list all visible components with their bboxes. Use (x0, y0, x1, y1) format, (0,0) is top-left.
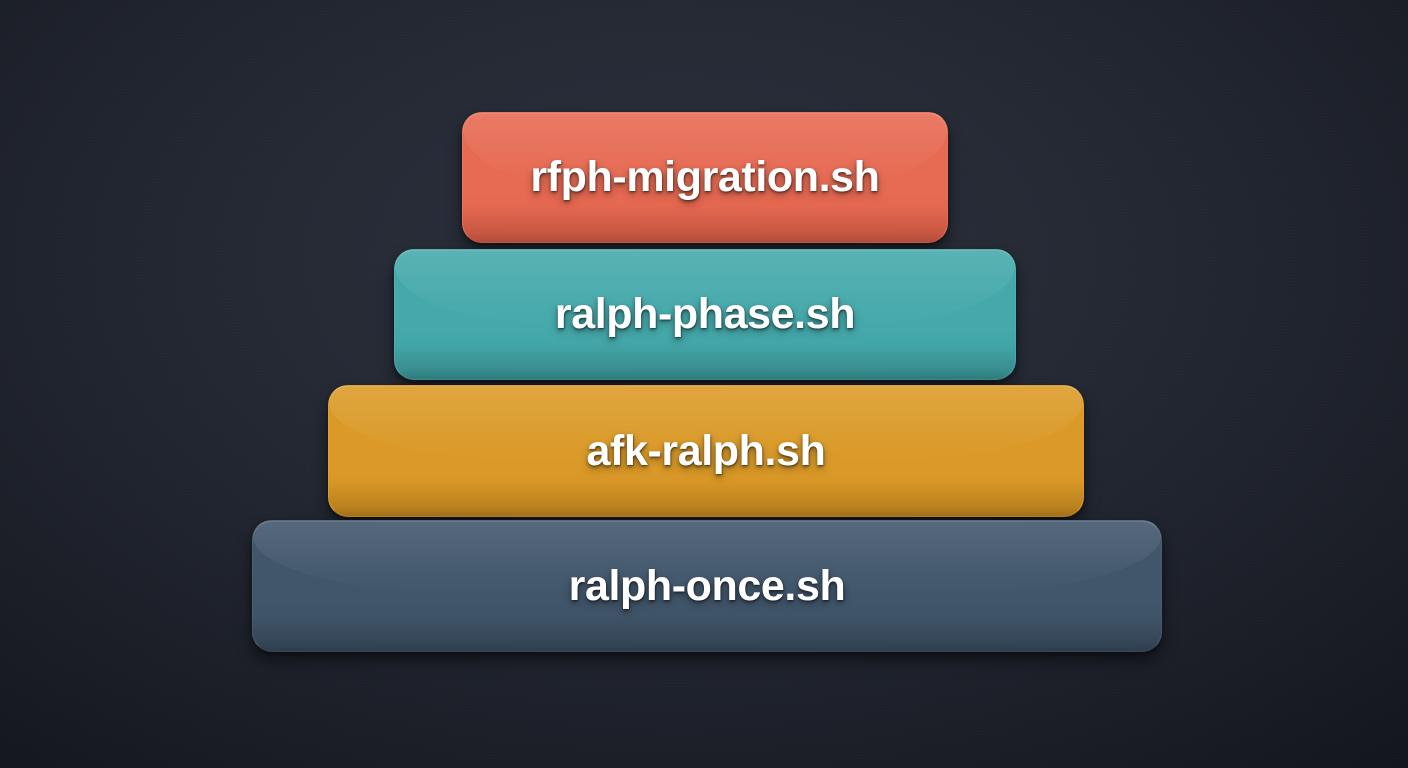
pyramid-layer-label: afk-ralph.sh (587, 430, 826, 473)
pyramid-layer-label: ralph-once.sh (569, 565, 846, 608)
pyramid-layer-3[interactable]: afk-ralph.sh (328, 385, 1084, 517)
pyramid-layer-4[interactable]: ralph-once.sh (252, 520, 1162, 652)
diagram-canvas: rfph-migration.sh ralph-phase.sh afk-ral… (0, 0, 1408, 768)
script-hierarchy-pyramid: rfph-migration.sh ralph-phase.sh afk-ral… (0, 0, 1408, 768)
pyramid-layer-1[interactable]: rfph-migration.sh (462, 112, 948, 243)
pyramid-layer-label: ralph-phase.sh (555, 293, 855, 336)
pyramid-layer-2[interactable]: ralph-phase.sh (394, 249, 1016, 380)
pyramid-layer-label: rfph-migration.sh (530, 156, 879, 199)
